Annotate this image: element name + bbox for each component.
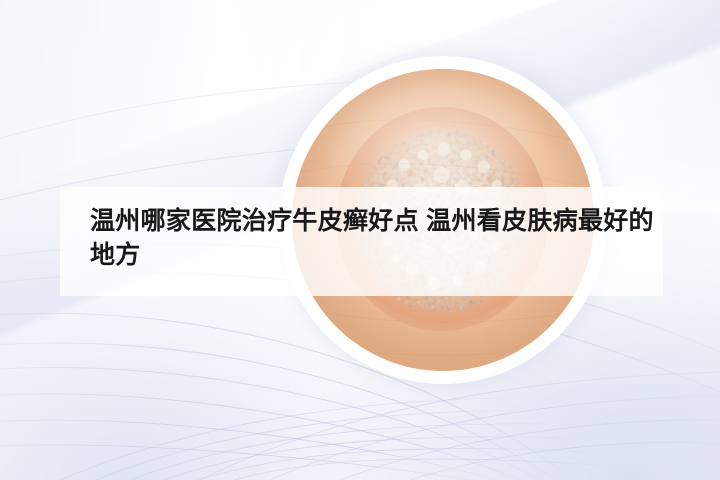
page-canvas: 温州哪家医院治疗牛皮癣好点 温州看皮肤病最好的地方 bbox=[0, 0, 720, 480]
caption-band: 温州哪家医院治疗牛皮癣好点 温州看皮肤病最好的地方 bbox=[60, 187, 663, 296]
page-title: 温州哪家医院治疗牛皮癣好点 温州看皮肤病最好的地方 bbox=[90, 204, 663, 272]
